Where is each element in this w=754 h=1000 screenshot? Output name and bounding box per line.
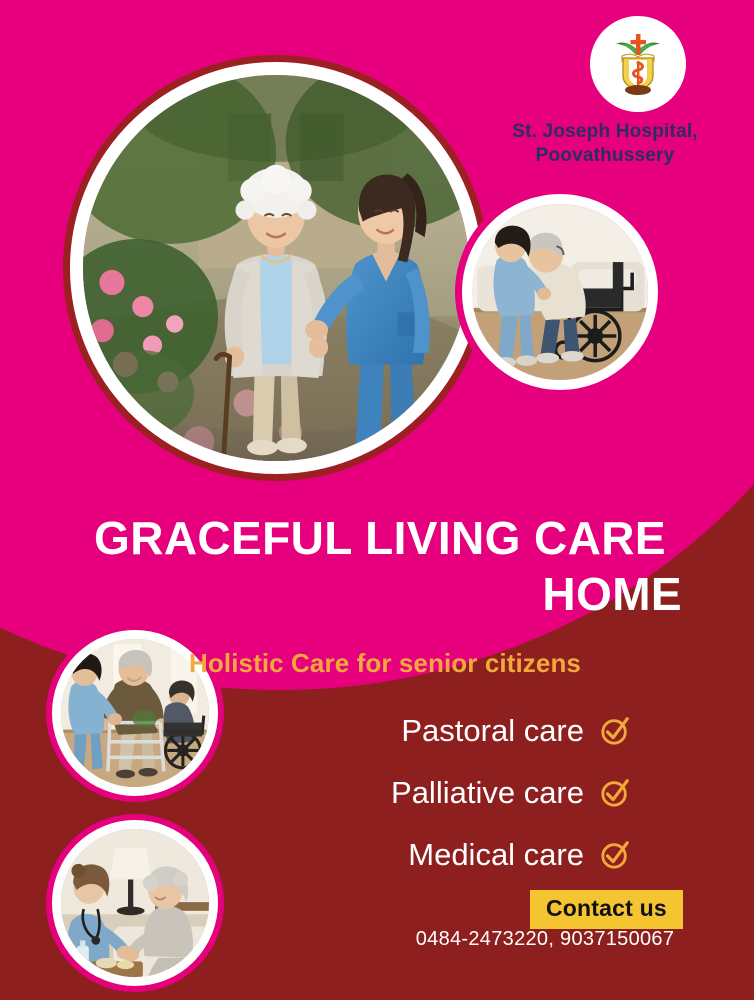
list-item: Medical care (250, 824, 630, 886)
list-item: Palliative care (250, 762, 630, 824)
service-label: Pastoral care (401, 713, 584, 749)
main-photo-nurse-walking-with-senior-woman-in-garden (70, 62, 482, 474)
subheadline: Holistic Care for senior citizens (60, 648, 710, 679)
service-label: Palliative care (391, 775, 584, 811)
headline-line-1: GRACEFUL LIVING CARE (94, 512, 666, 564)
check-circle-icon (600, 840, 630, 870)
left-photo-nurse-holding-hands-with-seated-senior (52, 820, 218, 986)
service-label: Medical care (408, 837, 584, 873)
check-circle-icon (600, 778, 630, 808)
headline-line-2: HOME (60, 566, 700, 622)
phone-numbers: 0484-2473220, 9037150067 (380, 928, 710, 951)
check-circle-icon (600, 716, 630, 746)
services-list: Pastoral care Palliative care Medical ca… (250, 700, 630, 886)
contact-us-button[interactable]: Contact us (530, 890, 683, 929)
list-item: Pastoral care (250, 700, 630, 762)
secondary-photo-caregiver-assisting-man-from-wheelchair (462, 194, 658, 390)
hospital-crest-logo (590, 16, 686, 112)
hospital-name: St. Joseph Hospital, Poovathussery (470, 120, 740, 168)
poster-canvas: St. Joseph Hospital, Poovathussery (0, 0, 754, 1000)
page-title: GRACEFUL LIVING CARE HOME (60, 510, 700, 622)
